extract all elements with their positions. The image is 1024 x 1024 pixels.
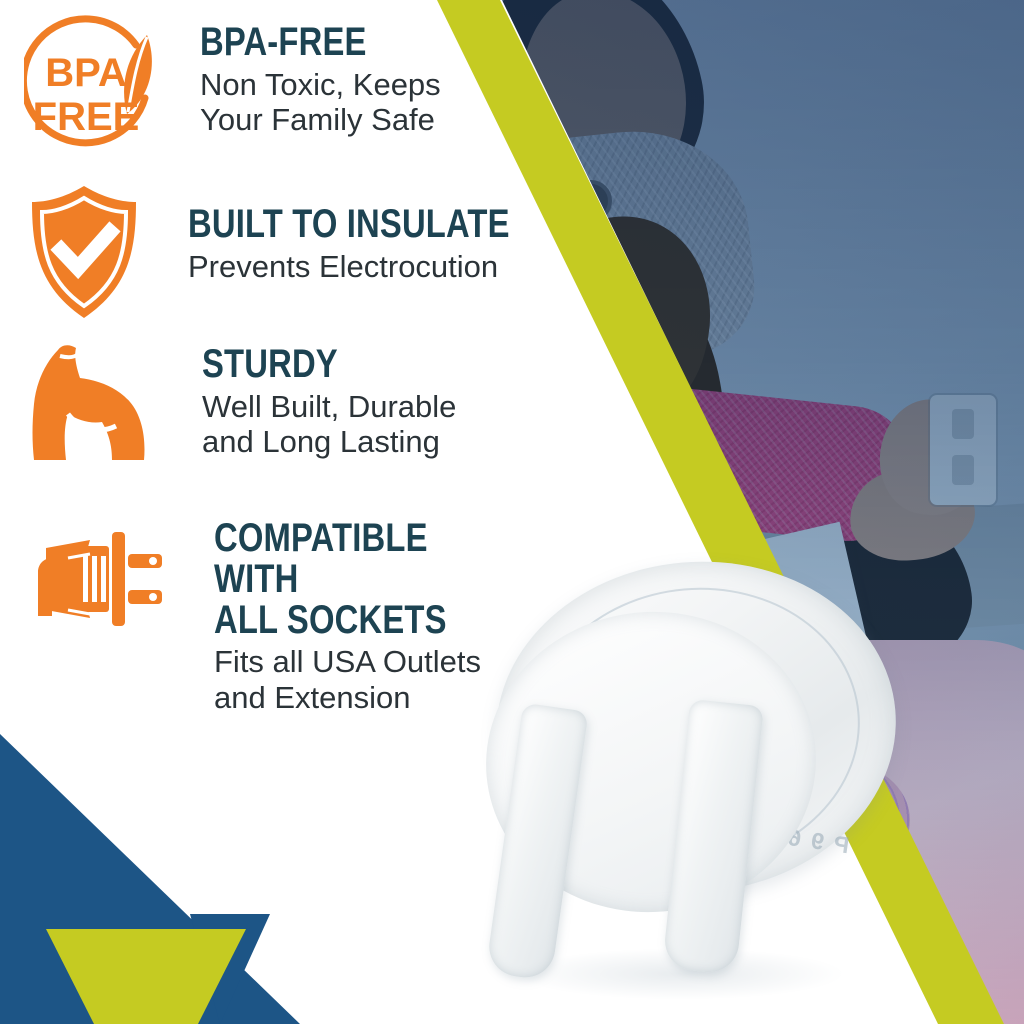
feature-item-bpa-free: BPA FREE BPA-FREE Non Toxic, Keeps Your …: [24, 14, 441, 164]
flexed-bicep-icon: [24, 338, 154, 468]
shield-check-icon: [24, 182, 144, 322]
feature-subtitle: Fits all USA Outlets and Extension: [214, 644, 520, 715]
feature-text-compatible-sockets: COMPATIBLE WITH ALL SOCKETS Fits all USA…: [214, 518, 520, 715]
feature-text-built-to-insulate: BUILT TO INSULATE Prevents Electrocution: [188, 204, 580, 284]
clear-outlet-plug-cover: 9661M 11 P 9 6: [486, 556, 938, 1008]
feature-subtitle: Non Toxic, Keeps Your Family Safe: [200, 67, 441, 138]
feature-title: COMPATIBLE WITH ALL SOCKETS: [214, 518, 465, 640]
feature-subtitle: Well Built, Durable and Long Lasting: [202, 389, 456, 460]
svg-text:FREE: FREE: [33, 95, 140, 139]
svg-text:BPA: BPA: [45, 51, 126, 95]
feature-item-sturdy: STURDY Well Built, Durable and Long Last…: [24, 338, 456, 468]
infographic-canvas: 9661M 11 P 9 6 BPA FREE: [0, 0, 1024, 1024]
feature-title: BPA-FREE: [200, 22, 397, 63]
bpa-free-badge-icon: BPA FREE: [24, 14, 174, 164]
feature-list: BPA FREE BPA-FREE Non Toxic, Keeps Your …: [0, 0, 520, 740]
electric-plug-icon: [24, 524, 174, 634]
feature-text-bpa-free: BPA-FREE Non Toxic, Keeps Your Family Sa…: [200, 22, 441, 137]
feature-item-compatible-sockets: COMPATIBLE WITH ALL SOCKETS Fits all USA…: [24, 524, 520, 715]
feature-text-sturdy: STURDY Well Built, Durable and Long Last…: [202, 344, 456, 459]
feature-item-built-to-insulate: BUILT TO INSULATE Prevents Electrocution: [24, 182, 580, 322]
feature-title: STURDY: [202, 344, 411, 385]
feature-title: BUILT TO INSULATE: [188, 204, 510, 245]
feature-subtitle: Prevents Electrocution: [188, 249, 580, 284]
